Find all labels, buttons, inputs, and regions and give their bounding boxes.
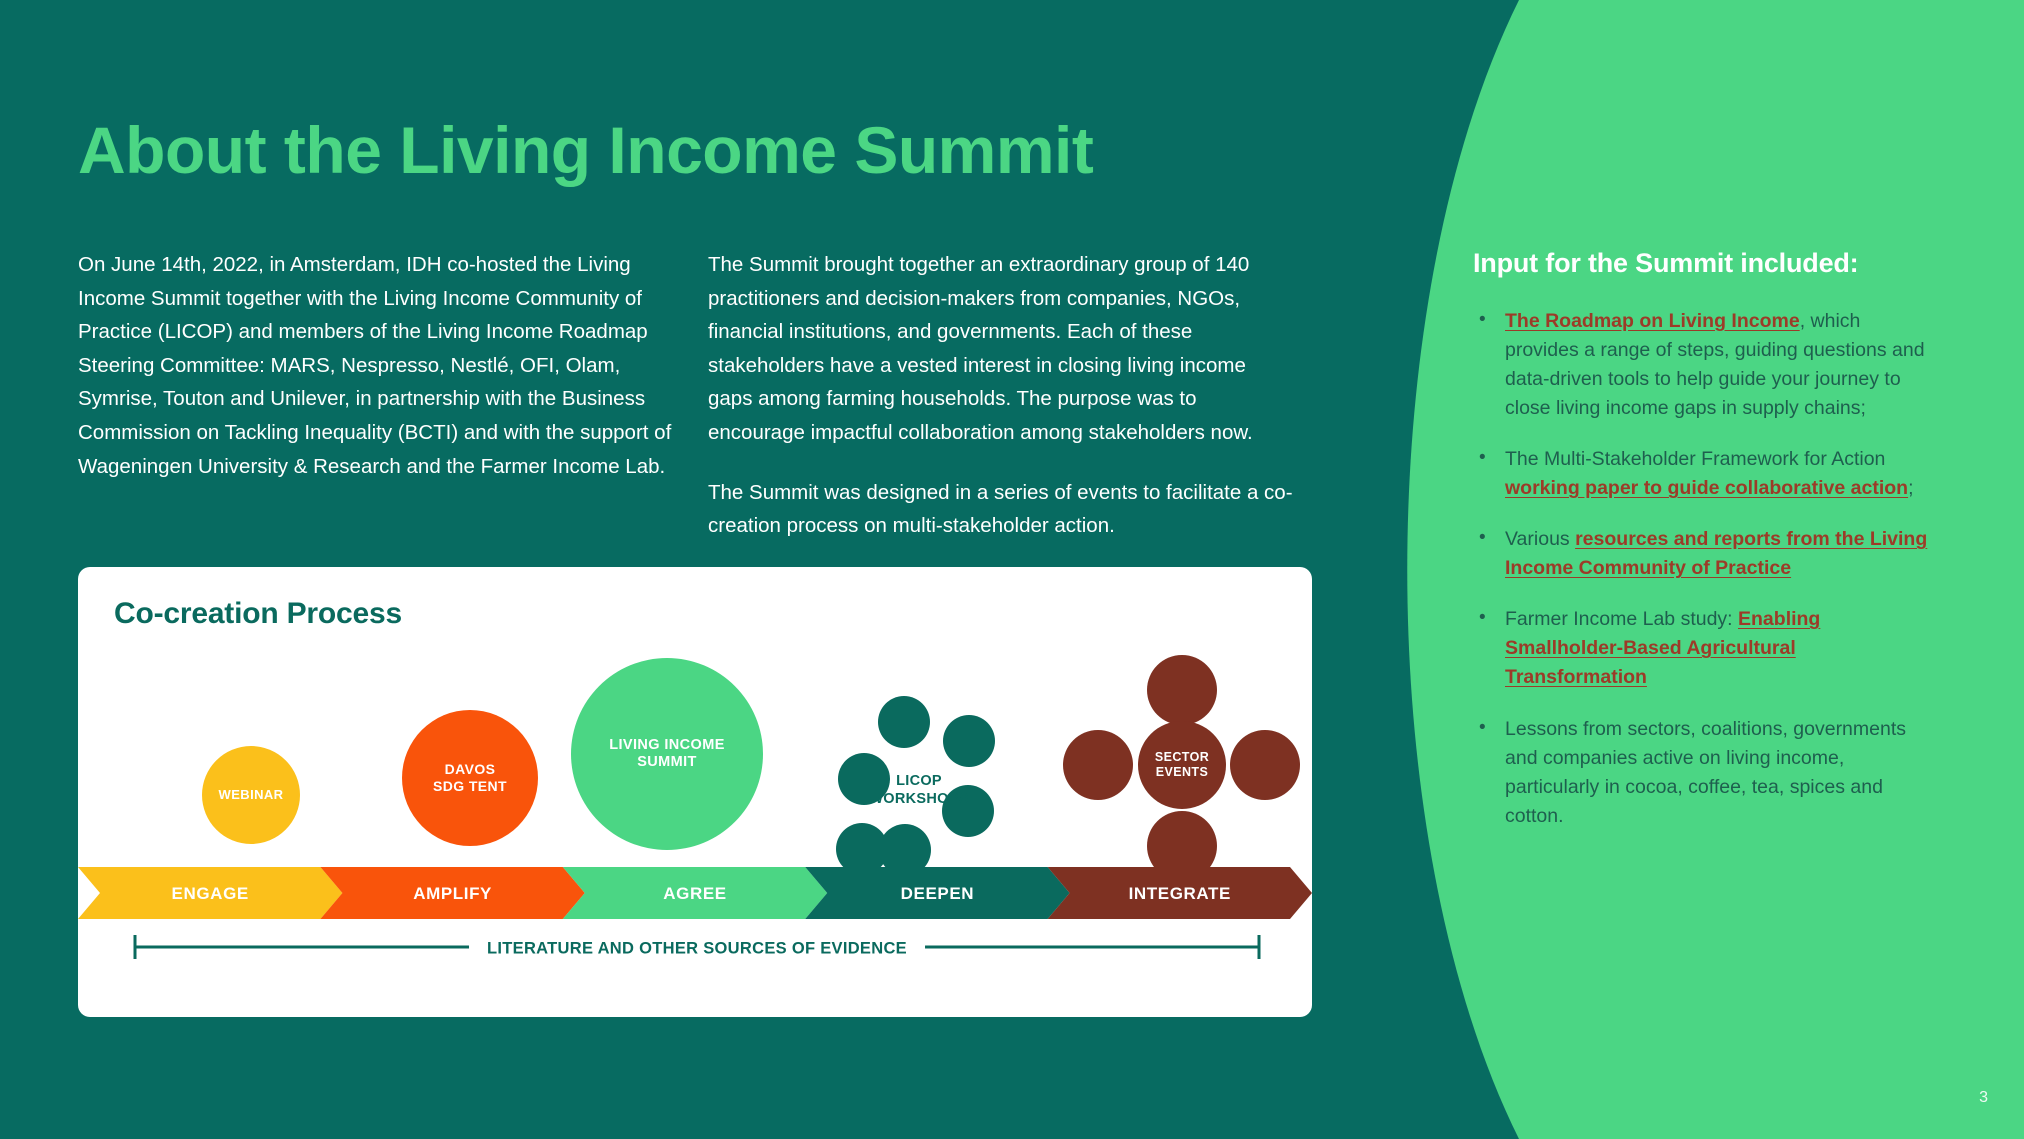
sidebar-text: Lessons from sectors, coalitions, govern… <box>1505 718 1906 827</box>
body-middle-column: The Summit brought together an extraordi… <box>708 248 1293 569</box>
node-summit-label-wrap: LIVING INCOME SUMMIT <box>571 658 763 850</box>
node-sector-events-label: SECTOR EVENTS <box>1155 750 1209 780</box>
node-licop-satellite-circle <box>878 696 930 748</box>
sidebar-bullet-item: The Roadmap on Living Income, which prov… <box>1473 307 1928 423</box>
paragraph: On June 14th, 2022, in Amsterdam, IDH co… <box>78 248 686 483</box>
co-creation-card: Co-creation Process WEBINAR <box>78 567 1312 1017</box>
evidence-label: LITERATURE AND OTHER SOURCES OF EVIDENCE <box>469 940 925 959</box>
node-davos-label: DAVOS SDG TENT <box>433 761 507 795</box>
node-sector-satellite-circle <box>1230 730 1300 800</box>
stage-chevron-label: AMPLIFY <box>413 884 492 903</box>
page-number: 3 <box>1979 1089 1988 1107</box>
slide-root: About the Living Income Summit On June 1… <box>0 0 2024 1139</box>
node-sector-events-label-wrap: SECTOR EVENTS <box>1138 721 1226 809</box>
sidebar-bullet-item: Farmer Income Lab study: Enabling Smallh… <box>1473 605 1928 692</box>
body-left-column: On June 14th, 2022, in Amsterdam, IDH co… <box>78 248 686 509</box>
sidebar-text: ; <box>1908 477 1913 499</box>
node-summit-label: LIVING INCOME SUMMIT <box>609 737 725 772</box>
sidebar-text: Farmer Income Lab study: <box>1505 608 1738 630</box>
sidebar-link[interactable]: working paper to guide collaborative act… <box>1505 477 1908 499</box>
sidebar-text: Various <box>1505 528 1575 550</box>
stage-chevron-label: DEEPEN <box>901 884 975 903</box>
page-title: About the Living Income Summit <box>78 116 1093 185</box>
sidebar-bullet-list: The Roadmap on Living Income, which prov… <box>1473 307 1928 831</box>
sidebar-link[interactable]: The Roadmap on Living Income <box>1505 310 1800 332</box>
sidebar-input-panel: Input for the Summit included: The Roadm… <box>1473 248 1928 853</box>
node-licop-satellite-circle <box>943 715 995 767</box>
sidebar-bullet-item: Various resources and reports from the L… <box>1473 525 1928 583</box>
node-webinar-label-wrap: WEBINAR <box>202 746 300 844</box>
evidence-axis: LITERATURE AND OTHER SOURCES OF EVIDENCE <box>132 929 1262 969</box>
paragraph: The Summit brought together an extraordi… <box>708 248 1293 450</box>
sidebar-bullet-item: The Multi-Stakeholder Framework for Acti… <box>1473 445 1928 503</box>
node-webinar-label: WEBINAR <box>219 787 284 803</box>
stage-chevron-label: INTEGRATE <box>1129 884 1231 903</box>
sidebar-text: The Multi-Stakeholder Framework for Acti… <box>1505 448 1885 470</box>
stage-chevron-bar: ENGAGEAMPLIFYAGREEDEEPENINTEGRATE <box>78 867 1312 919</box>
stage-chevron-label: ENGAGE <box>172 884 249 903</box>
node-sector-satellite-circle <box>1147 655 1217 725</box>
paragraph: The Summit was designed in a series of e… <box>708 476 1293 543</box>
sidebar-bullet-item: Lessons from sectors, coalitions, govern… <box>1473 715 1928 831</box>
sidebar-heading: Input for the Summit included: <box>1473 248 1928 279</box>
node-licop-workshops-label: LICOP WORKSHOPS <box>864 772 974 808</box>
node-davos-label-wrap: DAVOS SDG TENT <box>402 710 538 846</box>
node-sector-satellite-circle <box>1063 730 1133 800</box>
stage-chevron-label: AGREE <box>663 884 726 903</box>
